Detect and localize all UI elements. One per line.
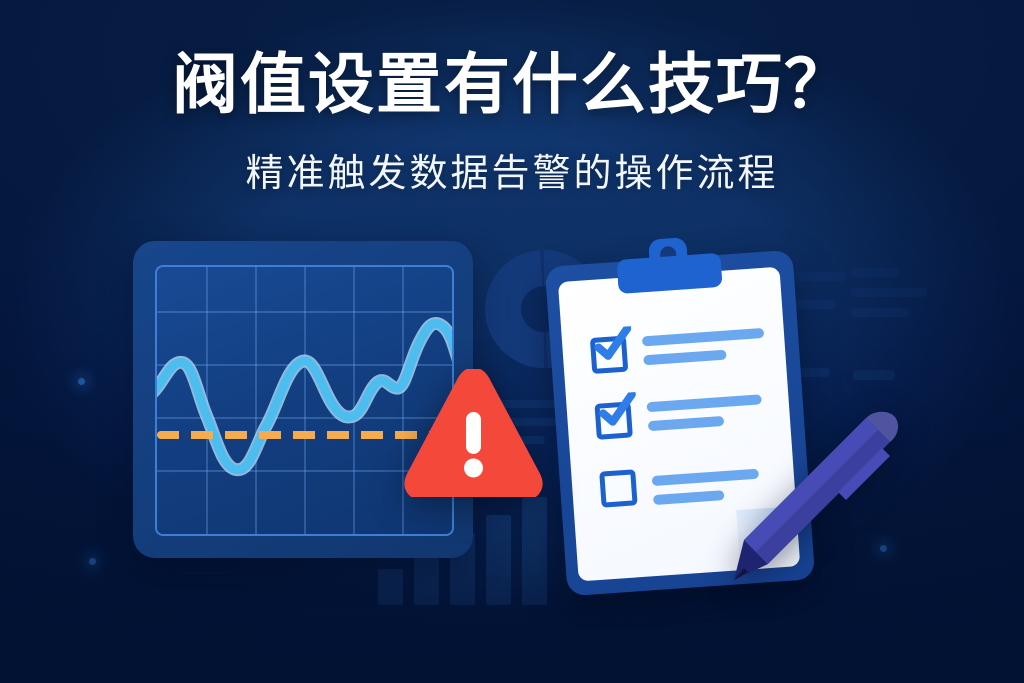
list-item[interactable]: [590, 326, 767, 384]
decor-line-8: [792, 272, 846, 281]
check-icon-2: [596, 392, 638, 429]
checkbox-unchecked-3[interactable]: [599, 469, 637, 507]
decor-bar-4: [486, 515, 511, 605]
pen-icon[interactable]: [714, 404, 904, 594]
decor-bar-2: [414, 551, 439, 605]
text-line: [643, 350, 726, 366]
text-line: [648, 416, 724, 431]
poster-canvas: 阀值设置有什么技巧？ 精准触发数据告警的操作流程: [0, 0, 1024, 683]
decor-line-4: [851, 268, 899, 277]
alert-warning-icon[interactable]: [404, 369, 543, 497]
page-subtitle: 精准触发数据告警的操作流程: [0, 142, 1024, 197]
clipboard-clip: [615, 235, 722, 294]
clip-body: [616, 253, 722, 294]
item-text-lines-1: [642, 328, 766, 374]
glow-dot-2: [89, 558, 96, 565]
decor-line-7: [853, 370, 895, 380]
decor-bar-1: [378, 569, 403, 605]
page-title: 阀值设置有什么技巧？: [0, 48, 1024, 122]
text-line: [642, 328, 764, 346]
decor-line-9: [792, 300, 836, 309]
glow-dot-1: [78, 378, 85, 385]
decor-line-5: [851, 288, 927, 297]
heading-block: 阀值设置有什么技巧？ 精准触发数据告警的操作流程: [0, 48, 1024, 197]
check-icon-1: [591, 326, 633, 363]
decor-line-6: [851, 308, 909, 317]
decor-bar-5: [522, 497, 547, 605]
